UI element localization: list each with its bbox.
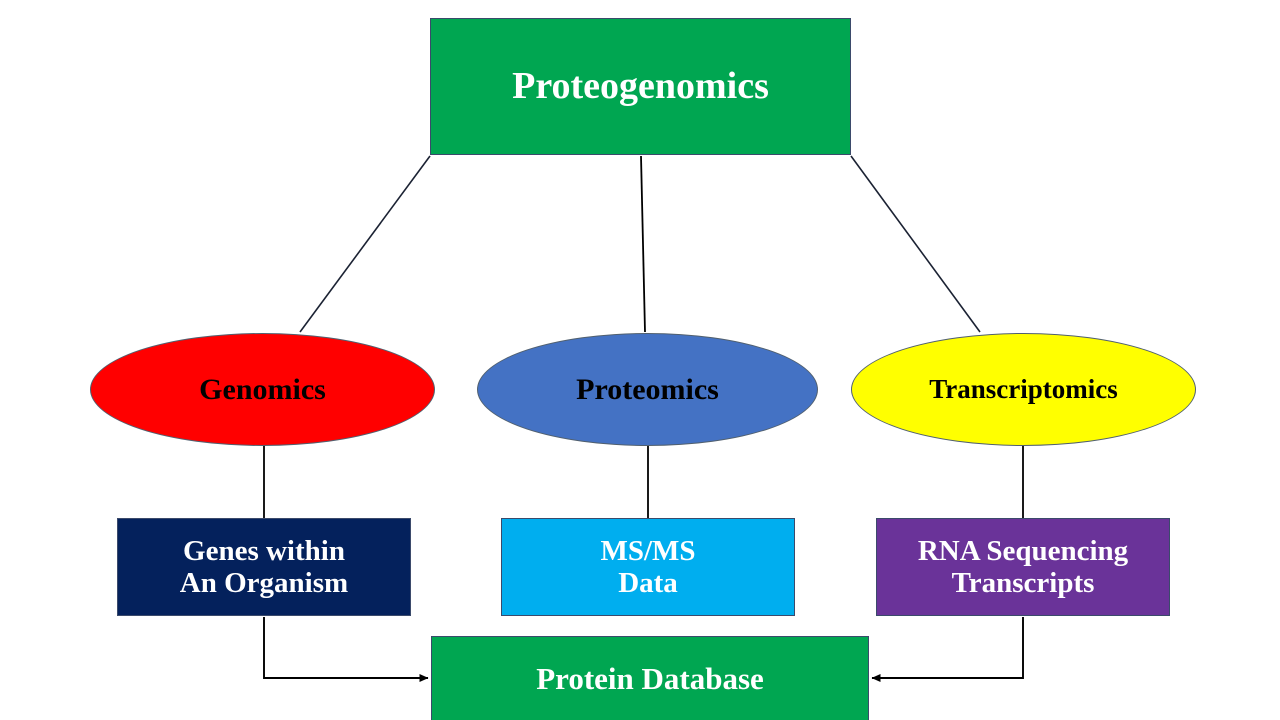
node-proteomics[interactable]: Proteomics — [477, 333, 818, 446]
node-proteogenomics[interactable]: Proteogenomics — [430, 18, 851, 155]
diagram-canvas: Proteogenomics Genomics Proteomics Trans… — [0, 0, 1280, 720]
node-genes-within-an-organism[interactable]: Genes within An Organism — [117, 518, 411, 616]
node-genomics[interactable]: Genomics — [90, 333, 435, 446]
edge-rna-protein-database — [872, 617, 1023, 678]
edge-genes-protein-database — [264, 617, 428, 678]
edge-proteogenomics-proteomics — [641, 156, 645, 332]
node-rna-sequencing-transcripts[interactable]: RNA Sequencing Transcripts — [876, 518, 1170, 616]
node-msms-data[interactable]: MS/MS Data — [501, 518, 795, 616]
node-transcriptomics[interactable]: Transcriptomics — [851, 333, 1196, 446]
edge-proteogenomics-genomics — [300, 156, 430, 332]
node-protein-database[interactable]: Protein Database — [431, 636, 869, 720]
edge-proteogenomics-transcriptomics — [851, 156, 980, 332]
